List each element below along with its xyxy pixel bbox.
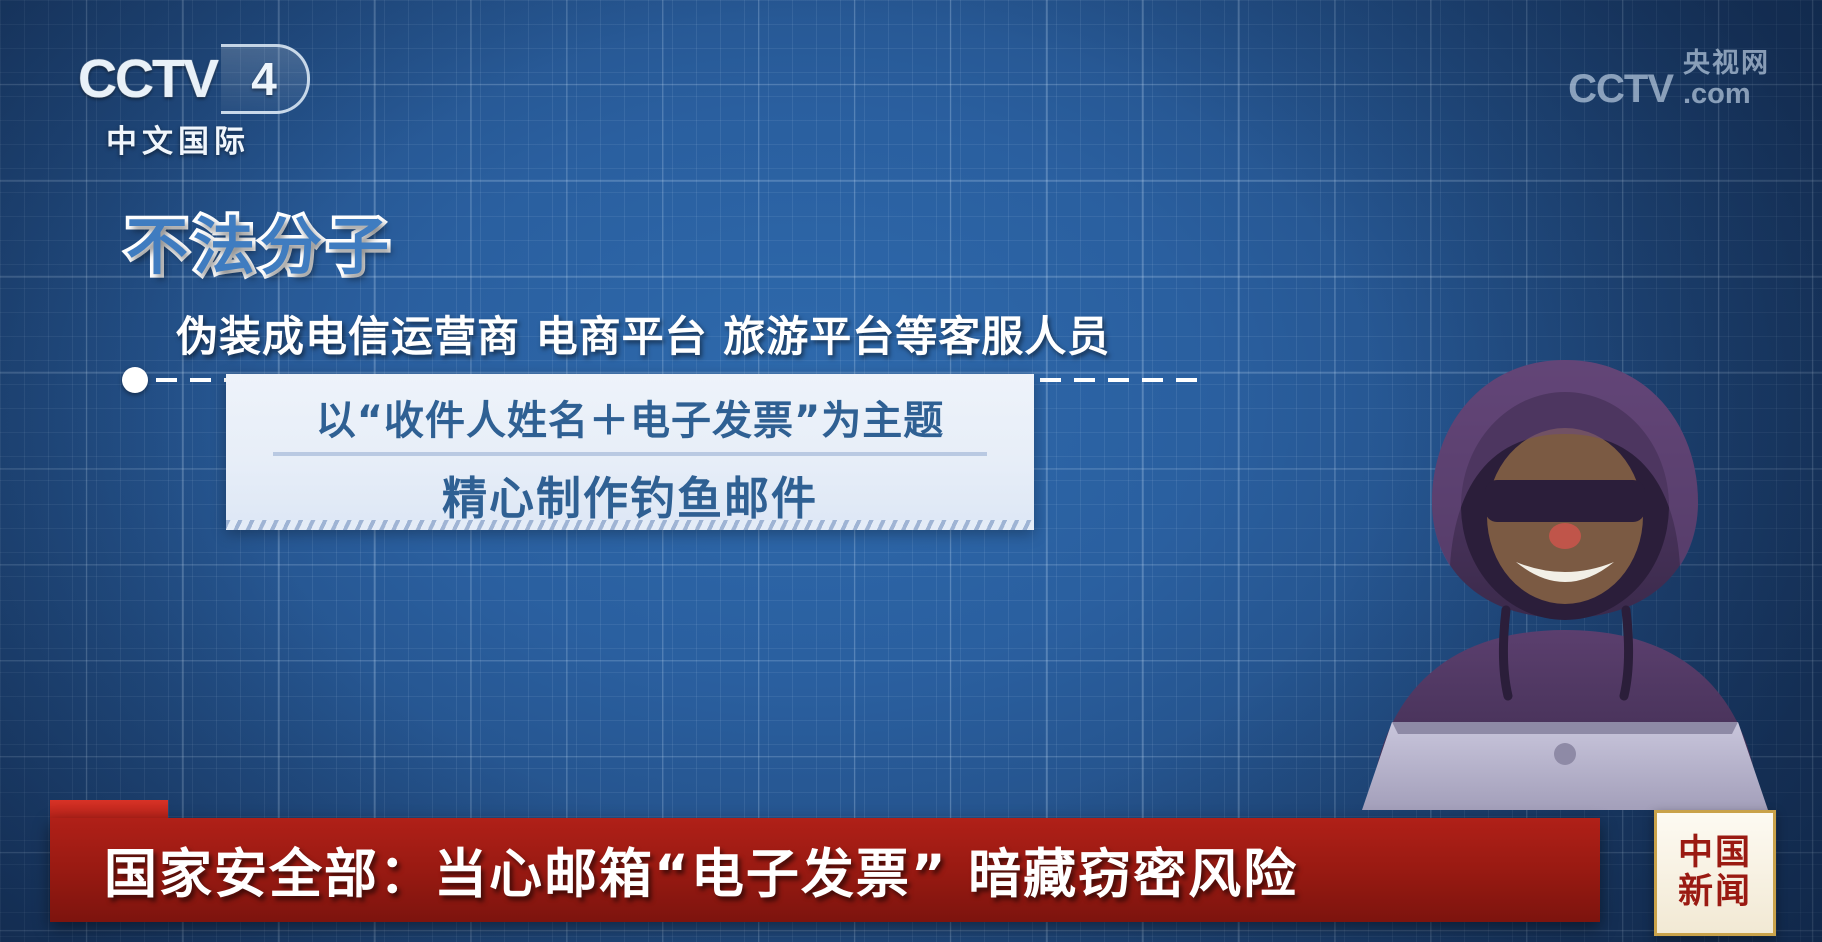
- cctv-com-watermark: CCTV 央视网 .com: [1568, 50, 1770, 109]
- panel-line-1: 以“收件人姓名＋电子发票”为主题: [226, 374, 1034, 446]
- watermark-com-text: .com: [1683, 80, 1751, 109]
- hacker-illustration: [1330, 330, 1800, 810]
- channel-logo-row: CCTV 4: [78, 48, 378, 110]
- broadcast-frame: CCTV 4 中文国际 CCTV 央视网 .com 不法分子 伪装成电信运营商 …: [0, 0, 1822, 942]
- panel-line-2: 精心制作钓鱼邮件: [226, 456, 1034, 527]
- channel-number-badge: 4: [221, 44, 310, 114]
- watermark-cctv-text: CCTV: [1568, 69, 1673, 109]
- bullet-dot-icon: [122, 367, 148, 393]
- program-badge: 中国 新闻: [1654, 810, 1776, 936]
- watermark-left: CCTV: [1568, 69, 1673, 109]
- watermark-cn-name: 央视网: [1683, 50, 1770, 77]
- program-badge-line-1: 中国: [1678, 834, 1752, 873]
- channel-subtitle: 中文国际: [106, 116, 378, 161]
- lower-third-headline: 国家安全部：当心邮箱“电子发票” 暗藏窃密风险: [50, 832, 1600, 908]
- slide-bullet-text: 伪装成电信运营商 电商平台 旅游平台等客服人员: [176, 303, 1197, 364]
- channel-logo: CCTV 4 中文国际: [78, 48, 378, 153]
- slide-kicker: 不法分子: [126, 196, 394, 286]
- banner-accent-tab: [50, 800, 168, 820]
- panel-hatch-stripe: [226, 520, 1034, 530]
- lower-third-banner: 国家安全部：当心邮箱“电子发票” 暗藏窃密风险: [50, 818, 1600, 922]
- channel-number: 4: [251, 52, 277, 106]
- program-badge-line-2: 新闻: [1678, 873, 1752, 912]
- cctv-wordmark: CCTV: [78, 52, 217, 106]
- info-panel: 以“收件人姓名＋电子发票”为主题 精心制作钓鱼邮件: [226, 374, 1034, 530]
- watermark-right: 央视网 .com: [1683, 50, 1770, 109]
